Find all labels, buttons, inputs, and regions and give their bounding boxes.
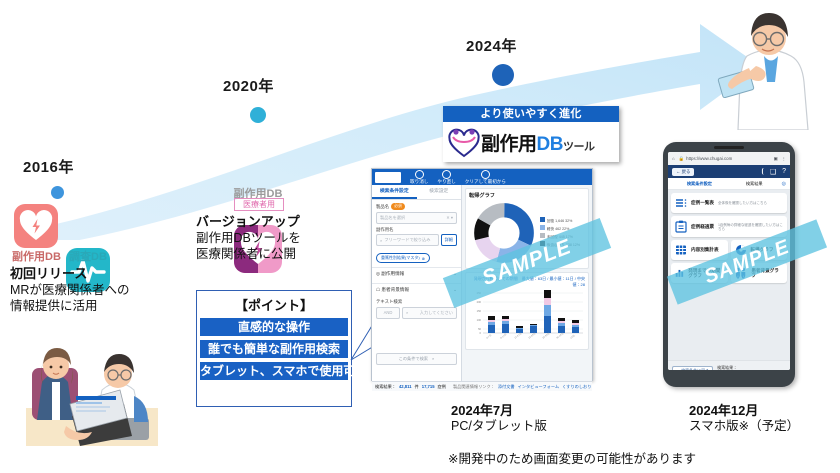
milestone-year-2016: 2016年 xyxy=(23,156,74,177)
legend-item-2: 未回復 445 17% xyxy=(540,233,580,240)
point-item-1: 直感的な操作 xyxy=(200,318,348,336)
outcome-chart-card: 転帰グラフ 回復 1,646 32% 軽快 462 22% 未回復 445 17… xyxy=(465,188,589,269)
people-icon xyxy=(735,267,748,279)
phone-back-to-conditions-button[interactable]: ← 検索条件に戻る xyxy=(672,366,713,371)
link-shiori[interactable]: くすりのしおり xyxy=(562,384,591,390)
milestone-title-2016: 初回リリース xyxy=(10,266,87,282)
search-submit-button[interactable]: この条件で検索⌕ xyxy=(376,353,457,365)
text-search-label: テキスト検索 xyxy=(376,299,457,305)
svg-text:36-42日: 36-42日 xyxy=(556,332,565,340)
search-icon: ⌕ xyxy=(432,356,434,361)
tablet-toolbar: 取り消し やり直し クリアして最初から xyxy=(372,169,592,185)
doctor-with-tablet-illustration xyxy=(714,8,824,130)
chip-remove-icon[interactable]: ⊗ xyxy=(422,256,425,261)
milestone-body-2016: MRが医療関係者への 情報提供に活用 xyxy=(10,282,129,314)
chevron-down-icon: ⌄ xyxy=(453,287,457,293)
search-icon: ⌕ xyxy=(380,238,382,243)
legend-item-1: 軽快 462 22% xyxy=(540,225,580,232)
tablet-tabs: 検索条件設定 検索設定 xyxy=(372,185,461,200)
tab-search-settings[interactable]: 検索設定 xyxy=(417,185,462,199)
operator-select[interactable]: AND xyxy=(376,307,400,319)
app-icon-label-fukusayo-db: 副作用DB xyxy=(12,248,60,264)
phone-speaker xyxy=(714,146,744,149)
pie-icon xyxy=(735,244,747,256)
links-label: 製品関連情報リンク： xyxy=(453,384,495,390)
svg-text:200: 200 xyxy=(477,300,482,304)
phone-menu-grid-2: 発現までの期間グラフ 患者背景グラフ xyxy=(671,263,787,283)
phone-url-bar[interactable]: 🔒https://www.chugai.com xyxy=(679,156,770,162)
product-logo-banner: より使いやすく進化 副作用DBツール xyxy=(443,106,619,162)
status-count-cases: 17,715 xyxy=(422,384,435,389)
accordion-patient-info[interactable]: ☖ 患者背景情報⌄ xyxy=(372,283,461,296)
logo-name-main: 副作用 xyxy=(481,134,537,155)
logo-banner-tagline: より使いやすく進化 xyxy=(443,106,619,122)
home-icon[interactable]: ⌂ xyxy=(672,156,675,161)
phone-caption-kind: スマホ版※（予定） xyxy=(689,419,799,434)
field-adverse-label: 副作用名 xyxy=(376,227,457,233)
chevron-down-icon: ⌄ xyxy=(453,271,457,277)
app-icon-fukusayo-db-2016 xyxy=(14,204,58,248)
phone-result-summary: 検索結果： 736件 721症例 xyxy=(717,365,751,371)
svg-text:22-28日: 22-28日 xyxy=(528,332,537,340)
overflow-menu-icon[interactable]: ⋮ xyxy=(782,156,786,162)
tablet-app-logo xyxy=(375,172,401,183)
product-logo-text: 副作用DBツール xyxy=(481,129,594,156)
help-icon[interactable]: ? xyxy=(782,168,786,176)
phone-menu-tabulation[interactable]: 内容別集計表 xyxy=(671,240,728,260)
lock-icon: 🔒 xyxy=(679,156,684,162)
legend-item-3: 後遺症あり 238 12% xyxy=(540,241,580,248)
svg-text:43日-: 43日- xyxy=(570,334,577,340)
points-title: 【ポイント】 xyxy=(197,295,351,314)
tablet-menu-undo[interactable]: 取り消し xyxy=(410,170,428,185)
tablet-menu-reset[interactable]: クリアして最初から xyxy=(465,170,506,185)
tablet-screenshot: 取り消し やり直し クリアして最初から 検索条件設定 検索設定 製品名必須 製品… xyxy=(371,168,593,381)
phone-menu-case-progress[interactable]: 症例経過票 1症例毎の詳細な経過を確認したい方はこちら xyxy=(671,216,787,237)
milestone-dot-2020 xyxy=(250,107,266,123)
duration-chart-header: 発現から転帰までの期間 最大値：63日 / 最小値：11日 / 中央値：28 xyxy=(469,276,585,288)
svg-text:0: 0 xyxy=(480,331,482,335)
bar-group xyxy=(488,290,579,333)
app-icon-badge-iryoshayo: 医療者用 xyxy=(234,198,284,211)
detail-button[interactable]: 詳細 xyxy=(441,234,457,246)
search-icon: ⌕ xyxy=(406,310,408,315)
milestone-dot-2016 xyxy=(51,186,64,199)
required-badge: 必須 xyxy=(391,203,405,210)
milestone-year-2024: 2024年 xyxy=(466,35,517,56)
person-icon: ☖ xyxy=(376,287,380,292)
duration-bar-chart: 050100 150200250 0-7日 8-14日 xyxy=(469,289,585,341)
field-adverse-event: 副作用名 ⌕フリーワードで絞り込み 詳細 重篤性別結果(マスタ)⊗ xyxy=(372,224,461,265)
svg-text:100: 100 xyxy=(477,318,482,322)
tablet-caption-kind: PC/タブレット版 xyxy=(451,419,547,434)
outcome-legend: 回復 1,646 32% 軽快 462 22% 未回復 445 17% 後遺症あ… xyxy=(540,217,580,249)
donut-svg xyxy=(474,203,534,263)
phone-tab-conditions[interactable]: 検索条件設定 xyxy=(672,181,727,187)
phone-browser-bar: ⌂ 🔒https://www.chugai.com ▣ ⋮ xyxy=(668,152,790,165)
milestone-dot-2024 xyxy=(492,64,514,86)
field-text-search: テキスト検索 AND ⌕入力してください xyxy=(372,296,461,319)
tablet-status-bar: 検索結果： 42,811件 17,715症例 製品関連情報リンク： 添付文書 イ… xyxy=(372,381,592,391)
logo-name-db: DB xyxy=(537,134,563,155)
milestone-year-2020: 2020年 xyxy=(223,75,274,96)
milestone-title-2020: バージョンアップ xyxy=(196,214,300,230)
svg-text:29-35日: 29-35日 xyxy=(542,332,551,340)
table-icon xyxy=(675,244,687,256)
product-input[interactable]: 製品名を選択✕ ▾ xyxy=(376,212,457,224)
phone-tabs: 検索条件設定 検索結果 ◎ xyxy=(668,178,790,190)
phone-appbar-actions: ⦗ ❑ ? xyxy=(761,168,786,176)
svg-text:150: 150 xyxy=(477,309,482,313)
phone-back-button[interactable]: ← 戻る xyxy=(672,168,694,176)
point-item-3: タブレット、スマホで使用可能 xyxy=(200,362,348,380)
list-icon xyxy=(675,197,687,209)
outcome-donut-chart: 回復 1,646 32% 軽快 462 22% 未回復 445 17% 後遺症あ… xyxy=(469,201,585,265)
tablet-result-panel: 転帰グラフ 回復 1,646 32% 軽快 462 22% 未回復 445 17… xyxy=(462,185,592,381)
field-product: 製品名必須 製品名を選択✕ ▾ xyxy=(372,200,461,224)
phone-footer: ← 検索条件に戻る 検索結果： 736件 721症例 xyxy=(668,360,790,370)
mr-and-doctor-illustration xyxy=(14,330,166,465)
points-box: 【ポイント】 直感的な操作 誰でも簡単な副作用検索 タブレット、スマホで使用可能 xyxy=(196,290,352,407)
tab-count-icon[interactable]: ▣ xyxy=(773,156,777,162)
legend-item-0: 回復 1,646 32% xyxy=(540,217,580,224)
duration-chart-card: 発現から転帰までの期間 最大値：63日 / 最小値：11日 / 中央値：28 0… xyxy=(465,272,589,350)
heart-bolt-icon xyxy=(14,204,58,248)
filter-chip[interactable]: 重篤性別結果(マスタ)⊗ xyxy=(376,253,430,263)
phone-menu-case-list[interactable]: 症例一覧表 全体像を確認したい方はこちら xyxy=(671,193,787,213)
phone-menu-patient-graph[interactable]: 患者背景グラフ xyxy=(731,263,788,283)
svg-text:50: 50 xyxy=(478,327,481,331)
link-tenpu[interactable]: 添付文書 xyxy=(498,384,515,390)
help-circle-icon[interactable]: ◎ xyxy=(782,181,786,187)
status-label: 検索結果： xyxy=(375,384,396,390)
phone-menu-duration-graph[interactable]: 発現までの期間グラフ xyxy=(671,263,728,283)
link-interview[interactable]: インタビューフォーム xyxy=(518,384,560,390)
point-item-2: 誰でも簡単な副作用検索 xyxy=(200,340,348,358)
share-icon[interactable]: ⦗ xyxy=(761,168,763,176)
tablet-search-panel: 検索条件設定 検索設定 製品名必須 製品名を選択✕ ▾ 副作用名 ⌕フリーワード… xyxy=(372,185,462,381)
bar-icon xyxy=(675,267,684,279)
phone-app-bar: ← 戻る ⦗ ❑ ? xyxy=(668,165,790,178)
accordion-adverse-info[interactable]: ◎ 副作用情報⌄ xyxy=(372,267,461,280)
phone-screen: ⌂ 🔒https://www.chugai.com ▣ ⋮ ← 戻る ⦗ ❑ ?… xyxy=(668,152,790,370)
svg-text:0-7日: 0-7日 xyxy=(486,334,492,340)
tablet-menu-redo[interactable]: やり直し xyxy=(437,170,455,185)
phone-result-label: 検索結果： xyxy=(717,365,751,371)
phone-menu-list: 症例一覧表 全体像を確認したい方はこちら 症例経過票 1症例毎の詳細な経過を確認… xyxy=(668,190,790,360)
adverse-input[interactable]: ⌕フリーワードで絞り込み xyxy=(376,234,439,246)
info-icon: ◎ xyxy=(376,271,380,276)
clear-icon[interactable]: ✕ ▾ xyxy=(446,215,453,220)
svg-text:15-21日: 15-21日 xyxy=(514,332,523,340)
phone-menu-outcome-graph[interactable]: 転帰グラフ xyxy=(731,240,788,260)
phone-tab-results[interactable]: 検索結果 xyxy=(727,181,782,187)
svg-text:250: 250 xyxy=(477,291,482,295)
field-product-label: 製品名必須 xyxy=(376,203,457,210)
phone-caption-date: 2024年12月 xyxy=(689,403,758,419)
smartphone-mockup: ⌂ 🔒https://www.chugai.com ▣ ⋮ ← 戻る ⦗ ❑ ?… xyxy=(663,142,795,387)
tablet-caption-date: 2024年7月 xyxy=(451,403,513,419)
outcome-chart-title: 転帰グラフ xyxy=(469,192,585,199)
clipboard-icon xyxy=(675,220,687,233)
phone-menu-grid-1: 内容別集計表 転帰グラフ xyxy=(671,240,787,260)
logo-name-tool: ツール xyxy=(563,141,595,153)
tab-search-conditions[interactable]: 検索条件設定 xyxy=(372,185,417,199)
svg-text:8-14日: 8-14日 xyxy=(500,333,508,340)
app-icon-label-chosa-db: 調査DB xyxy=(64,248,112,264)
heart-people-logo-icon xyxy=(447,126,481,158)
milestone-body-2020: 副作用DBツールを 医療関係者に公開 xyxy=(196,230,301,262)
text-search-input[interactable]: ⌕入力してください xyxy=(402,307,457,319)
footnote: ※開発中のため画面変更の可能性があります xyxy=(448,448,696,467)
bookmark-icon[interactable]: ❑ xyxy=(770,168,776,176)
status-count-reports: 42,811 xyxy=(399,384,412,389)
